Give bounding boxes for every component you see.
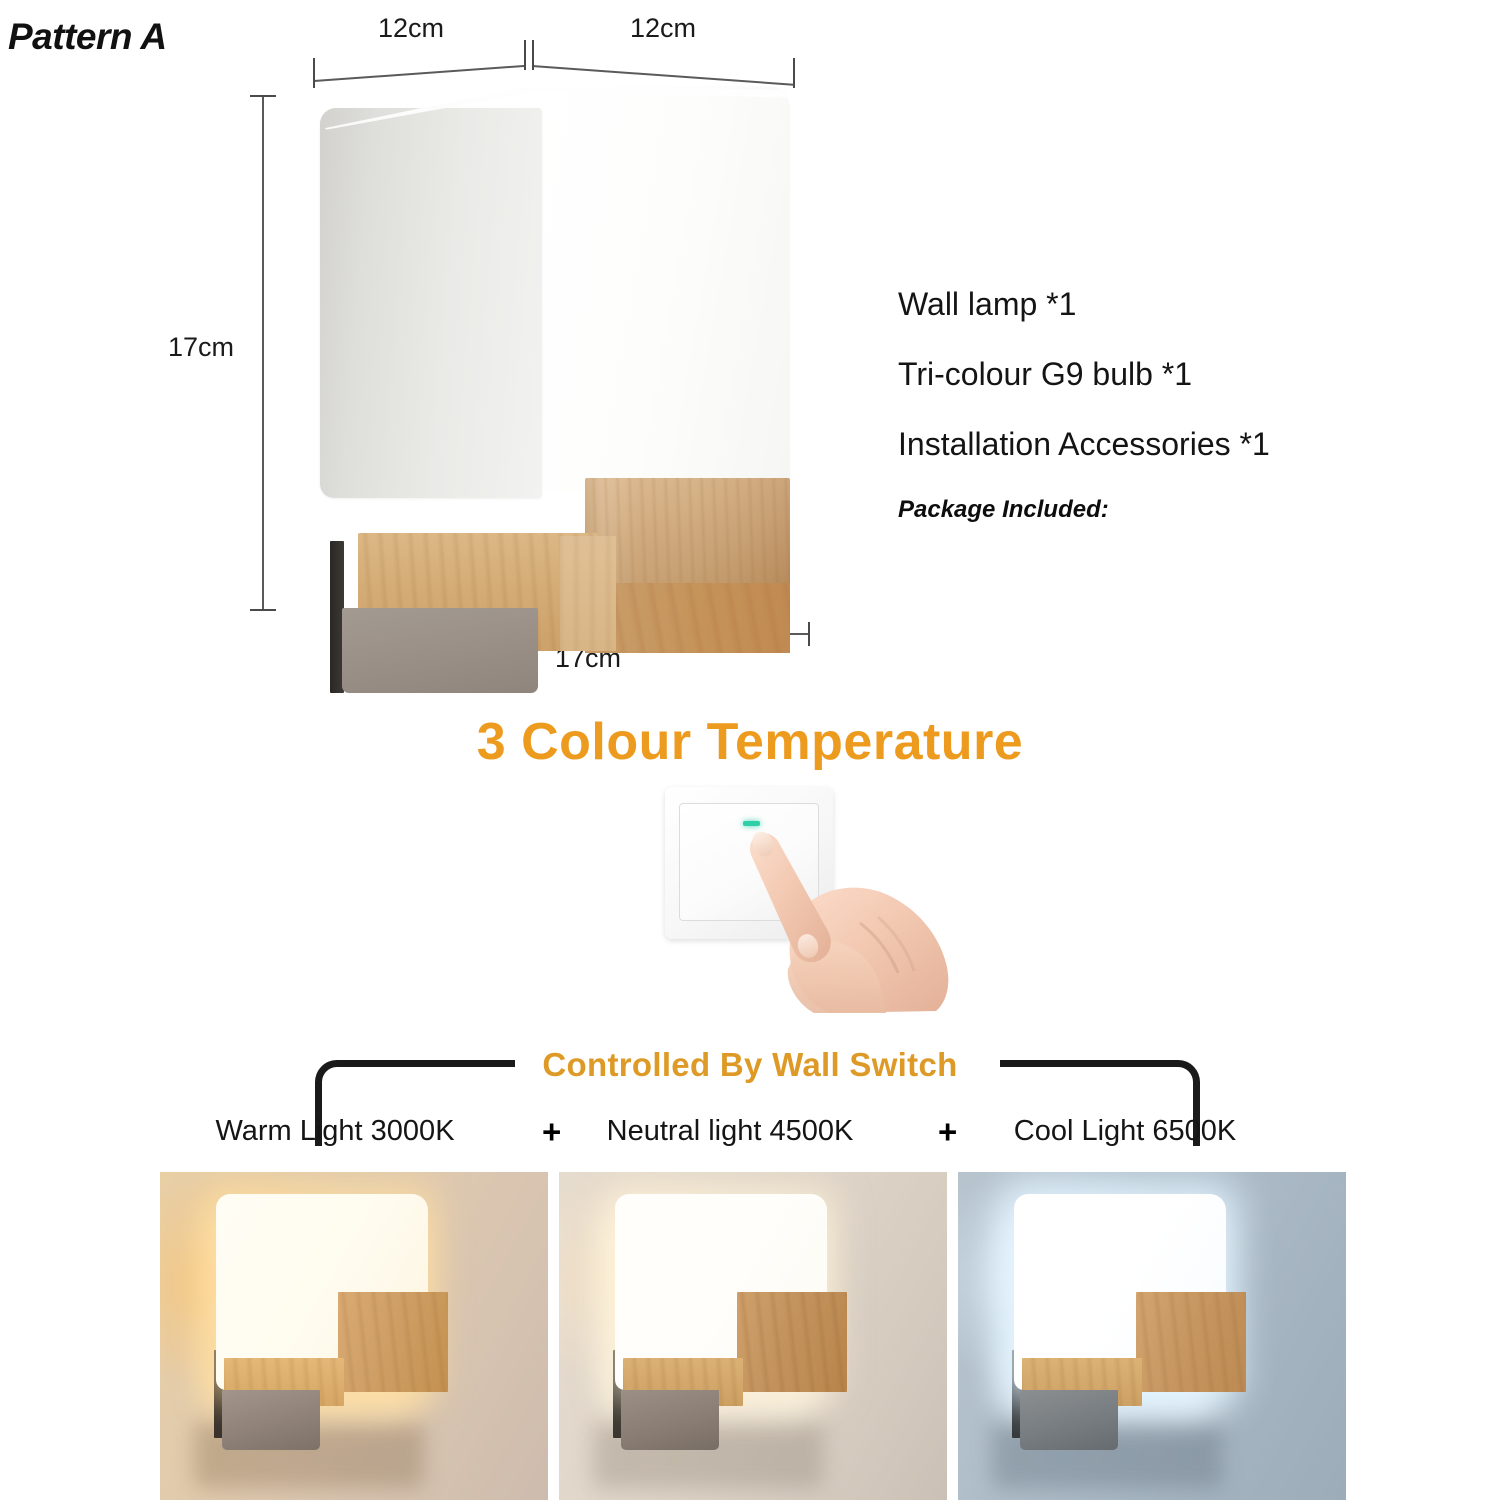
pointing-hand-icon: [710, 813, 955, 1013]
temp-label-cool: Cool Light 6500K: [950, 1115, 1300, 1148]
colour-temperature-photo-row: [160, 1172, 1346, 1500]
dimension-line-vertical: [262, 95, 264, 610]
dimension-tick-top: [250, 95, 276, 97]
dimension-tick-center-a: [524, 40, 526, 70]
photo-lamp-plate: [621, 1390, 719, 1450]
product-illustration: [300, 78, 820, 623]
dimension-tick-right: [808, 622, 810, 646]
controlled-by-wall-switch-caption: Controlled By Wall Switch: [0, 1046, 1500, 1084]
photo-lamp-wood-block: [338, 1292, 448, 1392]
pattern-label: Pattern A: [8, 16, 167, 58]
package-included-heading: Package Included:: [898, 496, 1358, 524]
colour-temperature-labels: Warm Light 3000K + Neutral light 4500K +…: [0, 1115, 1500, 1161]
photo-lamp-wood-block: [1136, 1292, 1246, 1392]
dimension-label-top-left: 12cm: [378, 13, 444, 44]
photo-cool-light: [958, 1172, 1346, 1500]
photo-neutral-light: [559, 1172, 947, 1500]
colour-temperature-headline: 3 Colour Temperature: [0, 712, 1500, 772]
package-included-block: Wall lamp *1 Tri-colour G9 bulb *1 Insta…: [898, 286, 1358, 524]
temp-label-warm: Warm Light 3000K: [160, 1115, 510, 1148]
dimension-label-height: 17cm: [168, 332, 234, 363]
package-item: Installation Accessories *1: [898, 426, 1358, 463]
infographic-page: Pattern A 12cm 12cm 17cm 17cm Wall lamp: [0, 0, 1500, 1500]
dimension-tick-bottom: [250, 609, 276, 611]
photo-warm-light: [160, 1172, 548, 1500]
lamp-wood-joint: [560, 536, 616, 651]
lamp-mounting-plate: [342, 608, 538, 693]
package-item: Tri-colour G9 bulb *1: [898, 356, 1358, 393]
photo-lamp-plate: [222, 1390, 320, 1450]
dimension-tick-center-b: [532, 40, 534, 70]
lamp-shade-front-face: [320, 108, 542, 498]
dimension-label-top-right: 12cm: [630, 13, 696, 44]
lamp-shade-right-face: [540, 86, 790, 491]
temp-label-neutral: Neutral light 4500K: [555, 1115, 905, 1148]
photo-lamp-wood-block: [737, 1292, 847, 1392]
package-item: Wall lamp *1: [898, 286, 1358, 323]
photo-lamp-plate: [1020, 1390, 1118, 1450]
wall-switch-scene: [655, 785, 955, 1010]
